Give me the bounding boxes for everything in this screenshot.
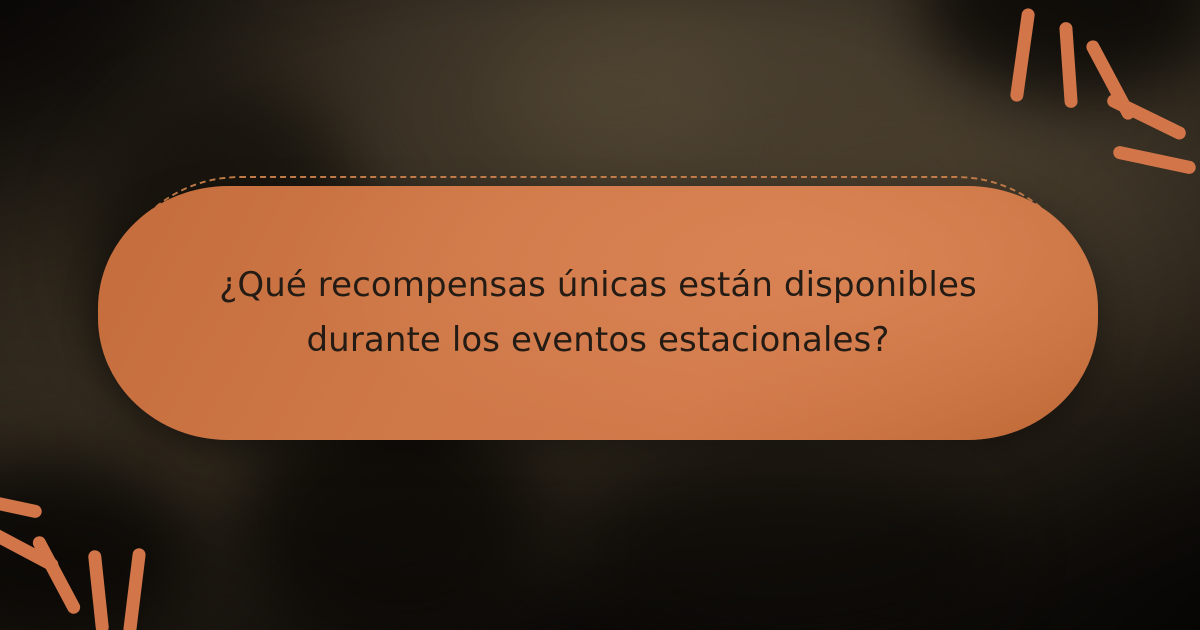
question-card-container: ¿Qué recompensas únicas están disponible… (98, 186, 1098, 440)
burst-ray (1010, 8, 1036, 103)
background-blob (580, 460, 1000, 630)
background-blob (500, 20, 740, 170)
burst-ray (1105, 92, 1188, 141)
burst-ray (31, 534, 83, 616)
burst-ray (88, 550, 110, 630)
sparkle-burst-top-right-icon (1000, 0, 1200, 180)
burst-ray (123, 548, 147, 630)
question-text: ¿Qué recompensas únicas están disponible… (188, 258, 1008, 368)
background-blob (240, 410, 540, 630)
sparkle-burst-bottom-left-icon (0, 450, 200, 630)
burst-ray (0, 489, 43, 519)
burst-ray (1112, 145, 1197, 175)
screenshot-canvas: ¿Qué recompensas únicas están disponible… (0, 0, 1200, 630)
question-card: ¿Qué recompensas únicas están disponible… (98, 186, 1098, 440)
burst-ray (1059, 22, 1078, 109)
